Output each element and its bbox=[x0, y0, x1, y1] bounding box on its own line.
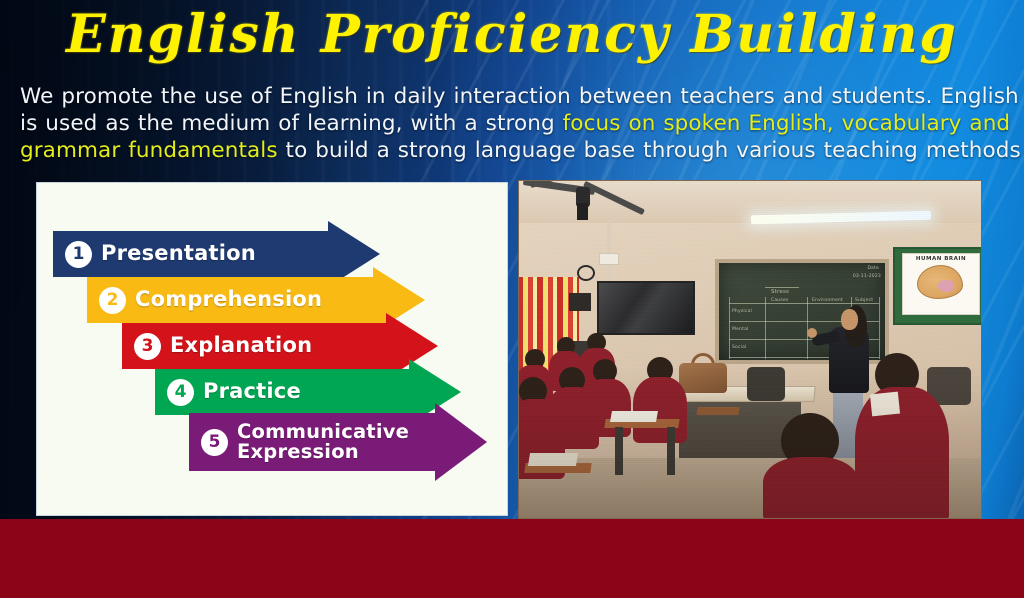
process-step-5-number: 5 bbox=[201, 429, 228, 456]
classroom-photo: Date 03-11-2023 Stress Causes Environmen… bbox=[518, 180, 982, 519]
process-step-5: 5 Communicative Expression bbox=[189, 413, 487, 471]
process-step-1-number: 1 bbox=[65, 241, 92, 268]
body-paragraph: We promote the use of English in daily i… bbox=[20, 83, 1024, 164]
footer-band bbox=[0, 519, 1024, 598]
process-step-5-label: Communicative Expression bbox=[237, 422, 409, 462]
arrow-stack: 1 Presentation 2 Comprehension 3 Explana… bbox=[37, 183, 507, 515]
process-step-4-body: 4 Practice bbox=[155, 369, 409, 415]
process-step-2-label: Comprehension bbox=[135, 289, 322, 311]
process-step-5-arrowhead bbox=[435, 403, 487, 481]
photo-grain bbox=[519, 181, 981, 518]
process-step-2-body: 2 Comprehension bbox=[87, 277, 373, 323]
process-step-4-number: 4 bbox=[167, 379, 194, 406]
process-step-4-label: Practice bbox=[203, 381, 301, 403]
process-diagram-panel: 1 Presentation 2 Comprehension 3 Explana… bbox=[36, 182, 508, 516]
process-step-2: 2 Comprehension bbox=[87, 277, 425, 323]
process-step-3: 3 Explanation bbox=[122, 323, 438, 369]
process-step-2-number: 2 bbox=[99, 287, 126, 314]
process-step-3-number: 3 bbox=[134, 333, 161, 360]
process-step-3-label: Explanation bbox=[170, 335, 312, 357]
body-text-segment-2: to build a strong language base through … bbox=[278, 138, 1021, 163]
process-step-5-body: 5 Communicative Expression bbox=[189, 413, 435, 471]
process-step-1-body: 1 Presentation bbox=[53, 231, 328, 277]
process-step-4: 4 Practice bbox=[155, 369, 461, 415]
process-step-1-label: Presentation bbox=[101, 243, 256, 265]
page-title: English Proficiency Building bbox=[0, 4, 1024, 65]
process-step-1: 1 Presentation bbox=[53, 231, 380, 277]
classroom-scene: Date 03-11-2023 Stress Causes Environmen… bbox=[519, 181, 981, 518]
process-step-3-body: 3 Explanation bbox=[122, 323, 386, 369]
slide-canvas: English Proficiency Building We promote … bbox=[0, 0, 1024, 598]
